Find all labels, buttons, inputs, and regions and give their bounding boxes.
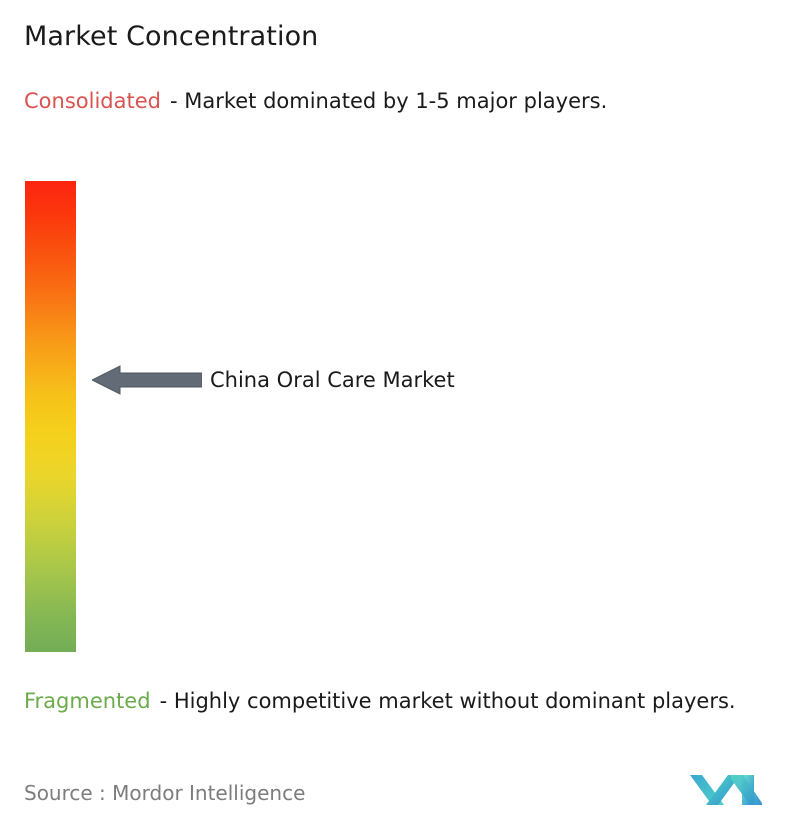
left-arrow-icon [92,364,202,396]
page-title: Market Concentration [24,20,318,54]
market-pointer-label: China Oral Care Market [210,364,455,396]
legend-description-fragmented: - Highly competitive market without domi… [160,689,736,713]
legend-consolidated: Consolidated- Market dominated by 1-5 ma… [24,86,780,117]
market-concentration-chart: Market Concentration Consolidated- Marke… [0,0,796,834]
legend-description-consolidated: - Market dominated by 1-5 major players. [170,89,607,113]
source-attribution: Source : Mordor Intelligence [24,779,305,807]
legend-fragmented: Fragmented- Highly competitive market wi… [24,686,784,717]
mordor-intelligence-logo-icon [690,771,766,809]
legend-keyword-consolidated: Consolidated [24,89,161,113]
legend-keyword-fragmented: Fragmented [24,689,151,713]
concentration-scale-bar [25,181,76,652]
